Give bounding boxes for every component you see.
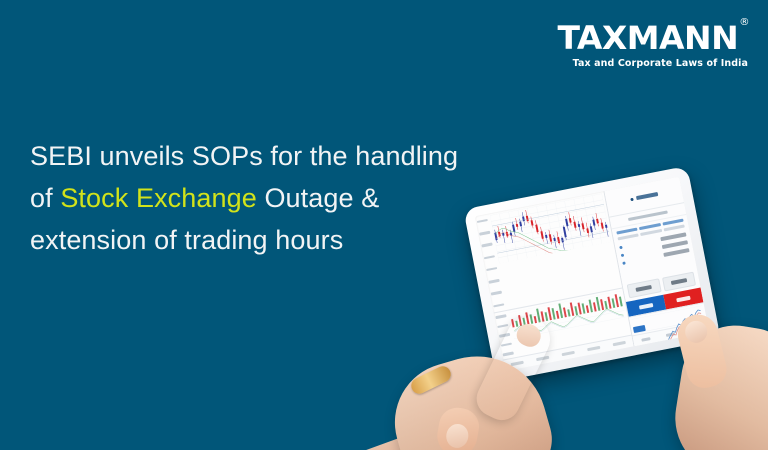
ticker-bullet-icon [630, 197, 634, 201]
headline-line-2-suffix: Outage & [257, 183, 379, 213]
radio-icon[interactable] [621, 253, 625, 257]
radio-icon[interactable] [619, 245, 623, 249]
promo-banner: TAXMANN® Tax and Corporate Laws of India… [0, 0, 768, 450]
finger-nail [513, 320, 544, 350]
logo-wordmark: TAXMANN® [557, 22, 748, 54]
axis-tick [491, 291, 502, 296]
sell-button-label [676, 295, 691, 302]
thumb-nail [683, 319, 710, 346]
registered-trademark-icon: ® [739, 17, 749, 28]
holding-hand [606, 308, 768, 450]
logo-wordmark-text: TAXMANN [557, 19, 738, 57]
order-field-label [662, 240, 688, 249]
axis-tick [481, 243, 492, 248]
ask-price-value [671, 278, 687, 285]
axis-tick [479, 231, 490, 236]
logo-tagline: Tax and Corporate Laws of India [563, 58, 748, 69]
axis-tick [484, 255, 495, 260]
taxmann-logo: TAXMANN® Tax and Corporate Laws of India [563, 22, 748, 69]
ticker-symbol [636, 192, 658, 200]
radio-icon[interactable] [622, 261, 626, 265]
axis-tick [477, 219, 488, 224]
candlestick-plot [490, 194, 611, 264]
thumb-nail [444, 422, 470, 449]
order-field-label [660, 232, 686, 241]
axis-tick [486, 267, 497, 272]
order-field-label [663, 248, 689, 257]
tablet-scene [430, 180, 768, 450]
bid-price-value [636, 285, 652, 292]
pointing-hand [396, 300, 606, 450]
headline-highlight: Stock Exchange [60, 183, 257, 213]
headline-line-1: SEBI unveils SOPs for the handling [30, 141, 458, 171]
headline-line-3: extension of trading hours [30, 225, 343, 255]
axis-tick [488, 279, 499, 284]
headline-line-2-prefix: of [30, 183, 60, 213]
